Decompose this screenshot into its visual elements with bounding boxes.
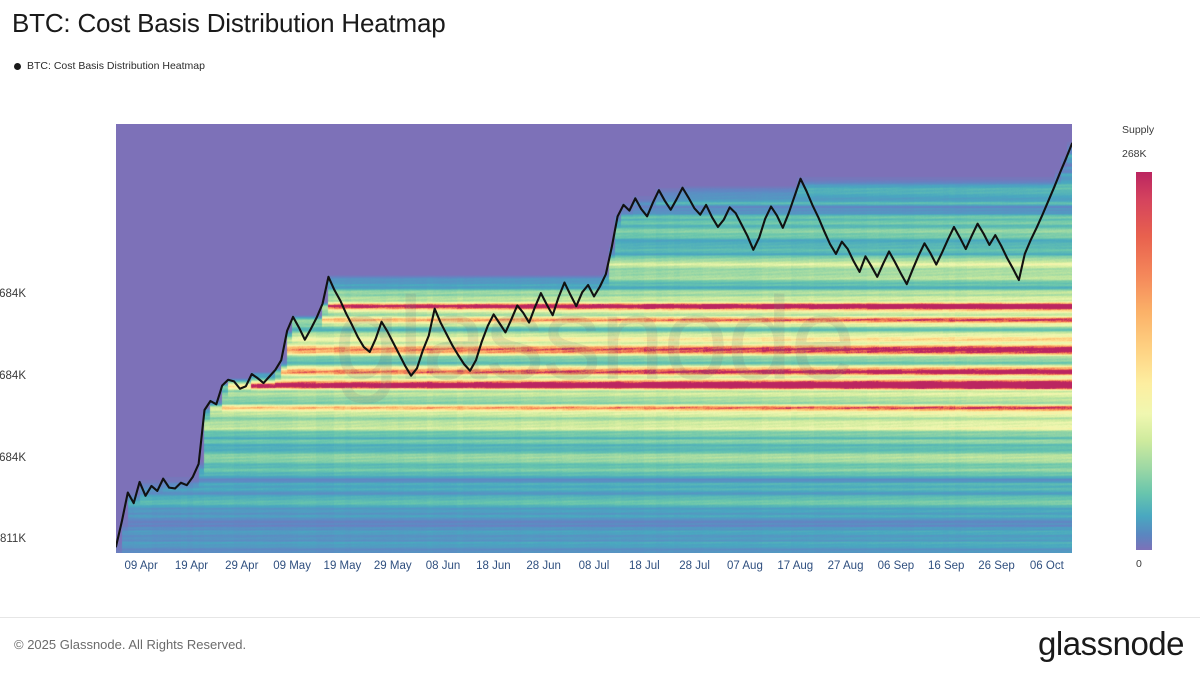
page-title: BTC: Cost Basis Distribution Heatmap bbox=[12, 8, 446, 39]
x-axis-tick-label: 29 Apr bbox=[225, 560, 258, 572]
x-axis-tick-label: 09 May bbox=[273, 560, 311, 572]
x-axis-tick-label: 27 Aug bbox=[828, 560, 864, 572]
price-line-svg bbox=[116, 124, 1072, 553]
x-axis-tick-label: 18 Jul bbox=[629, 560, 660, 572]
colorbar-gradient bbox=[1136, 172, 1152, 550]
colorbar-max-label: 268K bbox=[1122, 148, 1147, 160]
footer-divider bbox=[0, 617, 1200, 618]
x-axis-tick-label: 28 Jul bbox=[679, 560, 710, 572]
series-dot-icon bbox=[14, 63, 21, 70]
x-axis-tick-label: 07 Aug bbox=[727, 560, 763, 572]
price-line bbox=[116, 144, 1072, 547]
x-axis-tick-label: 06 Oct bbox=[1030, 560, 1064, 572]
x-axis-tick-label: 19 Apr bbox=[175, 560, 208, 572]
x-axis-tick-label: 28 Jun bbox=[526, 560, 561, 572]
copyright-text: © 2025 Glassnode. All Rights Reserved. bbox=[14, 637, 246, 652]
heatmap-plot-area[interactable]: glassnode bbox=[116, 124, 1072, 553]
x-axis-tick-label: 18 Jun bbox=[476, 560, 511, 572]
x-axis-tick-label: 06 Sep bbox=[878, 560, 914, 572]
x-axis-tick-label: 26 Sep bbox=[978, 560, 1014, 572]
x-axis-tick-label: 16 Sep bbox=[928, 560, 964, 572]
y-axis-tick-label: 97.684K bbox=[0, 370, 26, 382]
chart-legend[interactable]: BTC: Cost Basis Distribution Heatmap bbox=[14, 60, 205, 72]
x-axis-tick-label: 29 May bbox=[374, 560, 412, 572]
y-axis: 107.684K97.684K87.684K8367811K bbox=[0, 124, 34, 553]
x-axis: 09 Apr19 Apr29 Apr09 May19 May29 May08 J… bbox=[116, 560, 1072, 580]
x-axis-tick-label: 09 Apr bbox=[125, 560, 158, 572]
chart-root: BTC: Cost Basis Distribution Heatmap BTC… bbox=[0, 0, 1200, 678]
y-axis-tick-label: 107.684K bbox=[0, 288, 26, 300]
brand-logo: glassnode bbox=[1038, 625, 1184, 663]
y-axis-tick-label: 8367811K bbox=[0, 533, 26, 545]
legend-series-label: BTC: Cost Basis Distribution Heatmap bbox=[27, 60, 205, 72]
colorbar-min-label: 0 bbox=[1136, 558, 1142, 570]
x-axis-tick-label: 08 Jun bbox=[426, 560, 461, 572]
colorbar[interactable]: Supply 268K 0 bbox=[1122, 124, 1192, 564]
x-axis-tick-label: 17 Aug bbox=[777, 560, 813, 572]
x-axis-tick-label: 19 May bbox=[324, 560, 362, 572]
colorbar-title: Supply bbox=[1122, 124, 1154, 136]
x-axis-tick-label: 08 Jul bbox=[579, 560, 610, 572]
y-axis-tick-label: 87.684K bbox=[0, 452, 26, 464]
